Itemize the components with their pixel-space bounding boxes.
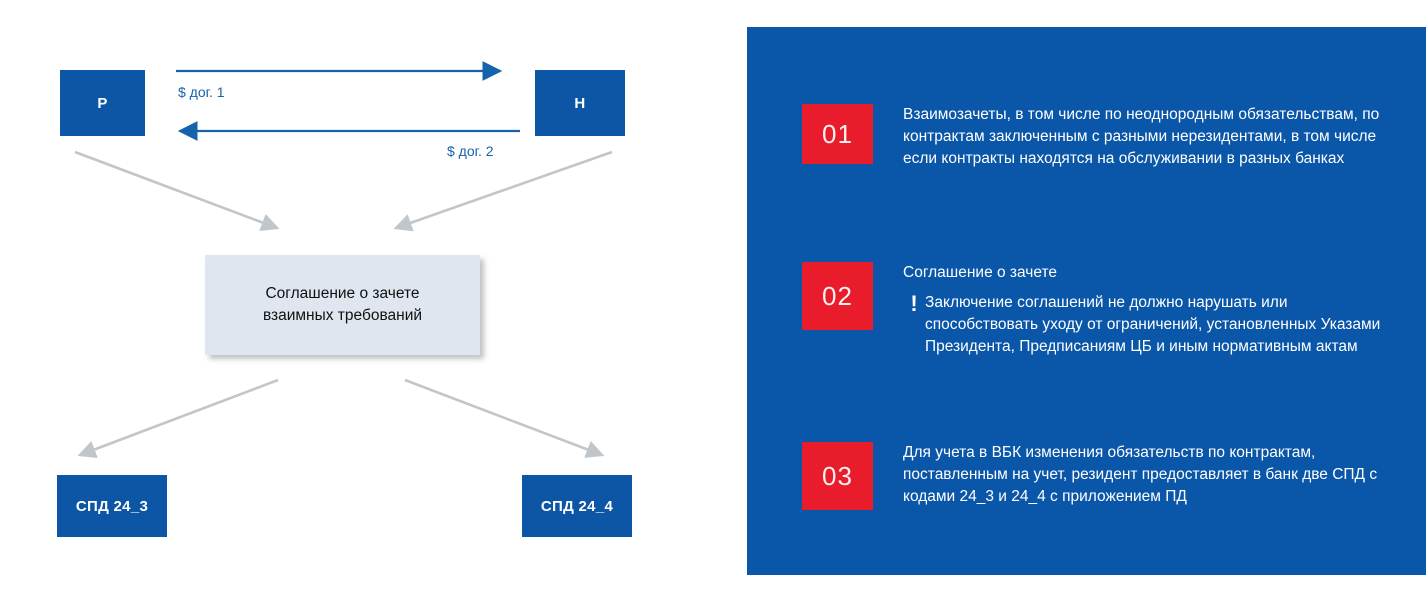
node-nonresident-label: Н (574, 95, 585, 112)
node-payer-label: Р (97, 95, 107, 112)
note-badge-03: 03 (802, 442, 873, 510)
diagram-pane: Р Н $ дог. 1 $ дог. 2 Соглашение о зачет… (0, 0, 735, 608)
note-item-03: 03 Для учета в ВБК изменения обязательст… (802, 442, 1403, 510)
node-spd-24-4-label: СПД 24_4 (541, 498, 613, 515)
node-spd-24-3: СПД 24_3 (57, 475, 167, 537)
note-item-01: 01 Взаимозачеты, в том числе по неодноро… (802, 104, 1403, 170)
node-spd-24-3-label: СПД 24_3 (76, 498, 148, 515)
node-nonresident: Н (535, 70, 625, 136)
notes-panel: 01 Взаимозачеты, в том числе по неодноро… (747, 27, 1426, 575)
arrow-agreement-to-spd-right (405, 380, 602, 455)
exclamation-icon: ! (903, 292, 925, 315)
agreement-line-1: Соглашение о зачете (263, 283, 422, 305)
note-badge-02: 02 (802, 262, 873, 330)
node-spd-24-4: СПД 24_4 (522, 475, 632, 537)
agreement-line-2: взаимных требований (263, 305, 422, 327)
flow-label-contract1: $ дог. 1 (178, 84, 225, 100)
node-offset-agreement: Соглашение о зачете взаимных требований (205, 255, 480, 355)
note-item-02: 02 Соглашение о зачете ! Заключение согл… (802, 262, 1395, 358)
note-warning-text-02: Заключение соглашений не должно нарушать… (925, 292, 1395, 358)
node-payer: Р (60, 70, 145, 136)
arrow-nonresident-to-agreement (396, 152, 612, 228)
note-text-01: Взаимозачеты, в том числе по неоднородны… (903, 104, 1403, 170)
arrow-agreement-to-spd-left (80, 380, 278, 455)
note-text-03: Для учета в ВБК изменения обязательств п… (903, 442, 1403, 508)
note-heading-02: Соглашение о зачете (903, 262, 1395, 284)
flow-label-contract2: $ дог. 2 (447, 143, 494, 159)
note-warning-row-02: ! Заключение соглашений не должно наруша… (903, 292, 1395, 358)
note-badge-01: 01 (802, 104, 873, 164)
arrow-payer-to-agreement (75, 152, 277, 228)
